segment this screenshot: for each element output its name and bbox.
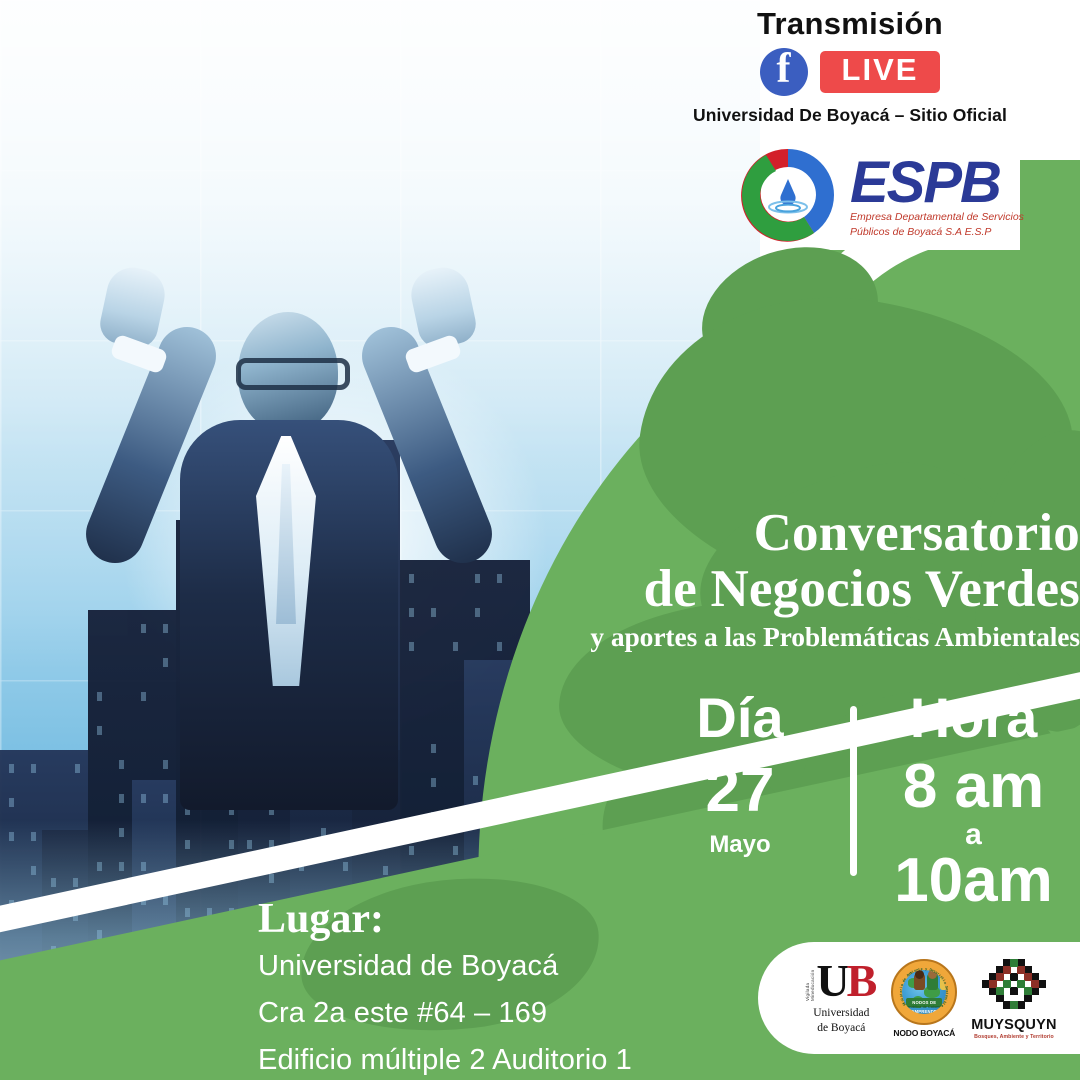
ub-name-line-2: de Boyacá bbox=[817, 1022, 865, 1035]
day-label: Día bbox=[640, 690, 840, 746]
day-number: 27 bbox=[640, 758, 840, 823]
espb-wordmark: ESPB bbox=[850, 157, 1024, 209]
ub-name-line-1: Universidad bbox=[813, 1007, 869, 1020]
espb-swirl-droplet-icon bbox=[736, 143, 840, 247]
broadcast-header: Transmisión LIVE Universidad De Boyacá –… bbox=[620, 6, 1080, 126]
logo-universidad-de-boyaca: Vigilada Mineducación U B Universidad de… bbox=[805, 961, 877, 1035]
facebook-page-name: Universidad De Boyacá – Sitio Oficial bbox=[620, 105, 1080, 126]
live-badge: LIVE bbox=[820, 51, 941, 93]
venue-heading: Lugar: bbox=[258, 898, 632, 940]
facebook-live-row: LIVE bbox=[620, 48, 1080, 96]
espb-tagline-line1: Empresa Departamental de Servicios bbox=[850, 211, 1024, 224]
title-subtitle: y aportes a las Problemáticas Ambientale… bbox=[520, 621, 1080, 653]
schedule-divider bbox=[850, 706, 857, 876]
ub-letter-b: B bbox=[847, 961, 878, 1001]
title-line-1: Conversatorio bbox=[520, 505, 1080, 561]
venue-line-2: Cra 2a este #64 – 169 bbox=[258, 993, 632, 1034]
ub-letter-u: U bbox=[816, 961, 849, 1001]
hour-column: Hora 8 am a 10am bbox=[867, 690, 1080, 910]
logo-ministerio-ambiente: NODOS DE EMPRENDE República de Colombia … bbox=[891, 959, 957, 1038]
seal-ring-text: Ministerio de Ambiente y Desarrollo Sost… bbox=[893, 961, 955, 1023]
hour-start: 8 am bbox=[867, 756, 1080, 818]
muysca-pattern-icon bbox=[981, 957, 1047, 1015]
sponsor-logo-panel: Vigilada Mineducación U B Universidad de… bbox=[758, 942, 1080, 1054]
hour-end: 10am bbox=[867, 850, 1080, 912]
day-month: Mayo bbox=[640, 831, 840, 859]
ministry-seal-icon: NODOS DE EMPRENDE República de Colombia … bbox=[891, 959, 957, 1025]
event-title: Conversatorio de Negocios Verdes y aport… bbox=[520, 505, 1080, 653]
ub-side-text: Vigilada Mineducación bbox=[805, 961, 815, 1001]
venue-line-3: Edificio múltiple 2 Auditorio 1 bbox=[258, 1040, 632, 1080]
transmision-label: Transmisión bbox=[620, 6, 1080, 42]
nodo-boyaca-caption: NODO BOYACÁ bbox=[893, 1028, 955, 1038]
day-column: Día 27 Mayo bbox=[640, 690, 840, 910]
espb-tagline-line2: Públicos de Boyacá S.A E.S.P bbox=[850, 226, 1024, 239]
logo-muysquyn: MUYSQUYN Bosques, Ambiente y Territorio bbox=[971, 957, 1056, 1040]
schedule-block: Día 27 Mayo Hora 8 am a 10am bbox=[640, 690, 1080, 910]
hour-label: Hora bbox=[867, 690, 1080, 746]
event-poster: Transmisión LIVE Universidad De Boyacá –… bbox=[0, 0, 1080, 1080]
venue-block: Lugar: Universidad de Boyacá Cra 2a este… bbox=[258, 898, 632, 1080]
title-line-2: de Negocios Verdes bbox=[520, 561, 1080, 617]
venue-line-1: Universidad de Boyacá bbox=[258, 946, 632, 987]
facebook-icon bbox=[760, 48, 808, 96]
espb-text-block: ESPB Empresa Departamental de Servicios … bbox=[850, 151, 1024, 239]
muysquyn-wordmark: MUYSQUYN bbox=[971, 1017, 1056, 1033]
ub-monogram-icon: Vigilada Mineducación U B bbox=[805, 961, 877, 1005]
espb-logo: ESPB Empresa Departamental de Servicios … bbox=[736, 140, 1056, 250]
muysquyn-tagline: Bosques, Ambiente y Territorio bbox=[974, 1034, 1054, 1040]
